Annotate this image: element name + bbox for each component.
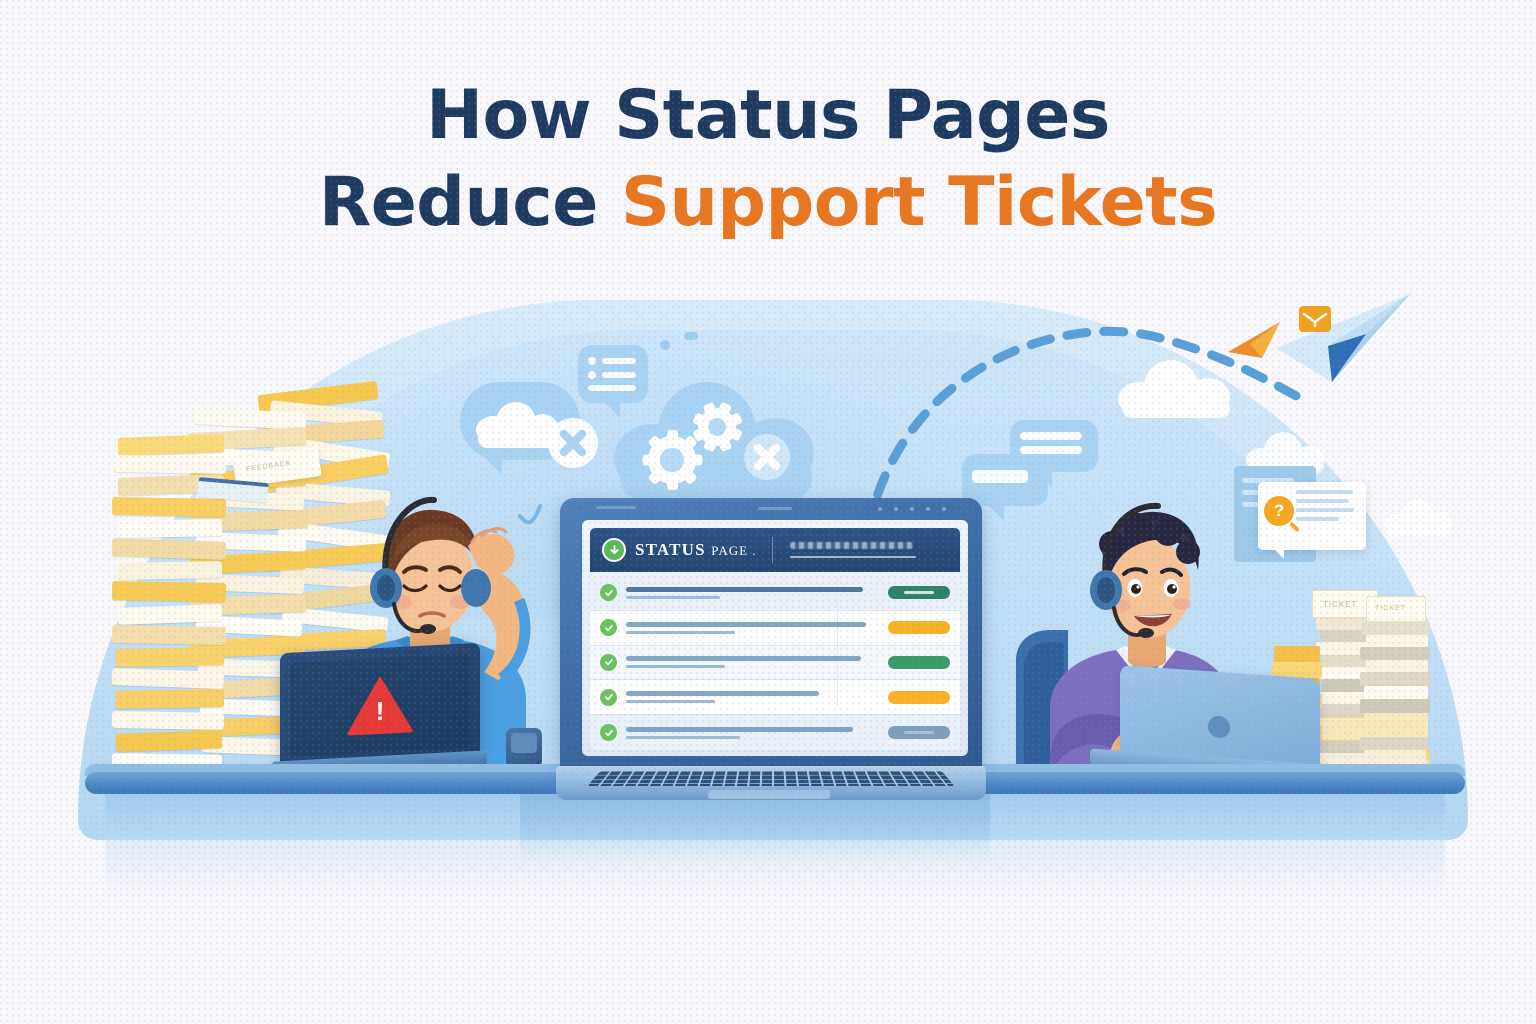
decor-dot xyxy=(684,332,698,340)
download-circle-icon xyxy=(602,538,626,562)
row-text xyxy=(626,622,873,634)
brand-secondary: PAGE . xyxy=(711,543,756,558)
status-page-screen: STATUS PAGE . xyxy=(582,520,968,756)
left-agent-laptop xyxy=(272,648,487,780)
row-text xyxy=(626,727,873,739)
x-mark-icon xyxy=(548,418,598,468)
status-row-list xyxy=(590,576,960,750)
row-column-divider xyxy=(837,578,838,707)
desk-device xyxy=(506,728,542,768)
status-badge xyxy=(888,726,950,739)
x-mark-icon xyxy=(744,434,790,480)
status-badge xyxy=(888,656,950,669)
header-divider xyxy=(772,537,773,563)
table-row[interactable] xyxy=(590,611,960,646)
table-row[interactable] xyxy=(590,646,960,681)
cloud-icon xyxy=(1384,500,1456,536)
ticket-stack-far-right: TICKET xyxy=(1356,596,1476,776)
row-text xyxy=(626,587,873,599)
check-circle-icon xyxy=(600,654,617,671)
decor-dot xyxy=(660,340,670,350)
left-laptop-screen xyxy=(290,653,470,756)
check-circle-icon xyxy=(600,619,617,636)
envelope-badge-icon xyxy=(1299,306,1331,332)
laptop-camera xyxy=(758,507,792,510)
laptop-trackpad[interactable] xyxy=(708,790,830,799)
right-laptop-logo xyxy=(1208,715,1230,739)
status-page-laptop: STATUS PAGE . xyxy=(556,498,986,798)
laptop-lid: STATUS PAGE . xyxy=(560,498,982,770)
table-row[interactable] xyxy=(590,680,960,715)
check-circle-icon xyxy=(600,689,617,706)
table-row[interactable] xyxy=(590,715,960,750)
status-page-header: STATUS PAGE . xyxy=(590,528,960,572)
page-title: How Status Pages Reduce Support Tickets xyxy=(0,72,1536,246)
table-row[interactable] xyxy=(590,576,960,611)
header-meta xyxy=(790,542,948,558)
status-badge xyxy=(888,621,950,634)
ticket-label: TICKET xyxy=(1323,600,1357,609)
status-page-brand: STATUS PAGE . xyxy=(635,540,757,560)
row-text xyxy=(626,656,873,668)
status-badge xyxy=(888,586,950,599)
laptop-keyboard-rows xyxy=(588,772,954,786)
row-text xyxy=(626,691,873,703)
check-circle-icon xyxy=(600,724,617,741)
gear-icon xyxy=(698,408,736,446)
title-reduce: Reduce xyxy=(319,163,621,242)
title-line-1: How Status Pages xyxy=(0,72,1536,159)
desk-reflection-center xyxy=(520,792,990,862)
gear-icon xyxy=(648,436,696,484)
title-line-2: Reduce Support Tickets xyxy=(0,159,1536,246)
orange-swoosh-icon xyxy=(1226,318,1296,362)
bezel-indicator xyxy=(596,506,636,509)
status-badge xyxy=(888,691,950,704)
check-circle-icon xyxy=(600,584,617,601)
title-support-tickets: Support Tickets xyxy=(621,163,1217,242)
brand-primary: STATUS xyxy=(635,540,706,559)
illustration-canvas: How Status Pages Reduce Support Tickets xyxy=(0,0,1536,1024)
warning-triangle-icon xyxy=(346,674,414,736)
